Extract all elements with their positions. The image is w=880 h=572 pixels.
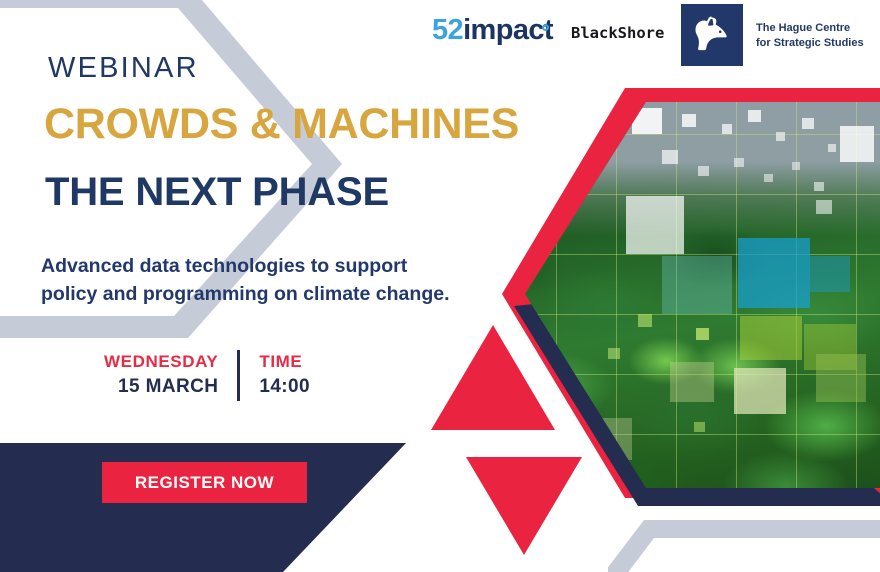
event-time: TIME 14:00 bbox=[240, 350, 310, 401]
register-now-button[interactable]: REGISTER NOW bbox=[102, 462, 307, 503]
page-title-secondary: THE NEXT PHASE bbox=[45, 170, 389, 215]
register-now-button-label: REGISTER NOW bbox=[135, 473, 274, 493]
triangle-up-icon bbox=[431, 325, 555, 430]
webinar-banner: 52impact BlackShore The Hague Centre for… bbox=[0, 0, 880, 572]
event-date-label: WEDNESDAY bbox=[104, 350, 218, 374]
subtitle-line-1: Advanced data technologies to support bbox=[41, 253, 501, 281]
event-time-label: TIME bbox=[259, 350, 302, 374]
blackshore-logo: BlackShore bbox=[571, 24, 664, 42]
event-date-value: 15 MARCH bbox=[118, 374, 218, 401]
52impact-logo: 52impact bbox=[432, 16, 553, 45]
rainforest-satellite-photo bbox=[486, 66, 880, 506]
horse-head-icon bbox=[681, 4, 743, 66]
chevron-outline-icon bbox=[608, 520, 880, 572]
52impact-logo-word: impact bbox=[463, 14, 553, 46]
subtitle-line-2: policy and programming on climate change… bbox=[41, 281, 501, 309]
event-date: WEDNESDAY 15 MARCH bbox=[104, 350, 237, 401]
eyebrow-webinar: WEBINAR bbox=[48, 52, 199, 85]
partner-logo-strip: 52impact BlackShore The Hague Centre for… bbox=[424, 4, 880, 66]
hero-image-panel bbox=[486, 66, 880, 506]
hcss-logo-line2: for Strategic Studies bbox=[756, 36, 864, 51]
subtitle: Advanced data technologies to support po… bbox=[41, 253, 501, 308]
event-datetime: WEDNESDAY 15 MARCH TIME 14:00 bbox=[104, 350, 310, 401]
triangle-down-icon bbox=[466, 457, 582, 555]
52impact-logo-number: 52 bbox=[432, 14, 463, 46]
hcss-logo-text: The Hague Centre for Strategic Studies bbox=[756, 21, 864, 50]
event-time-value: 14:00 bbox=[259, 374, 310, 401]
degree-circle-icon bbox=[542, 24, 549, 31]
hcss-logo-line1: The Hague Centre bbox=[756, 21, 864, 36]
page-title-primary: CROWDS & MACHINES bbox=[44, 100, 519, 149]
